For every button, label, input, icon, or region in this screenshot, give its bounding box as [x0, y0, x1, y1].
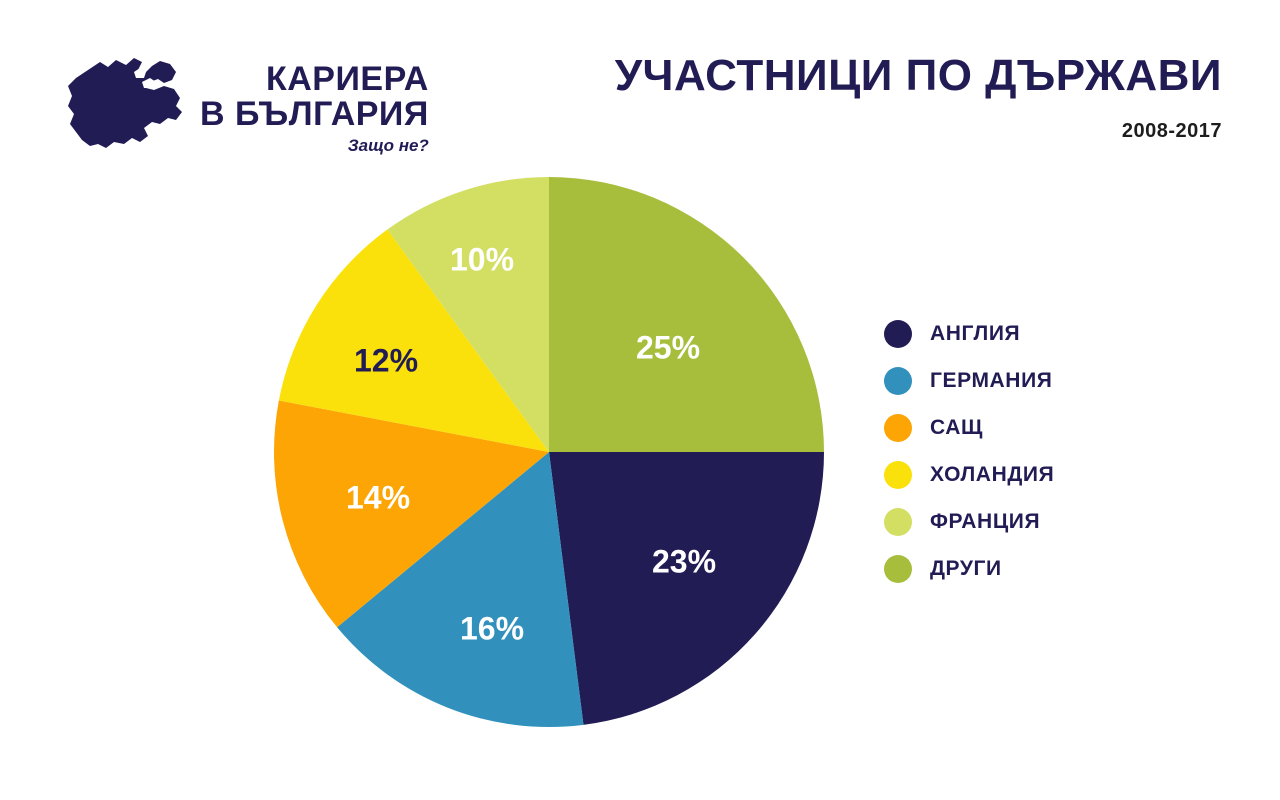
pie-slice-label: 14% [346, 479, 410, 515]
legend-item-label: ХОЛАНДИЯ [930, 463, 1054, 487]
legend-item[interactable]: АНГЛИЯ [884, 320, 1054, 348]
chart-legend: АНГЛИЯГЕРМАНИЯСАЩХОЛАНДИЯФРАНЦИЯДРУГИ [884, 320, 1054, 583]
legend-color-swatch-icon [884, 367, 912, 395]
page-title: УЧАСТНИЦИ ПО ДЪРЖАВИ [602, 52, 1222, 100]
pie-slice [549, 177, 824, 452]
legend-item[interactable]: ХОЛАНДИЯ [884, 461, 1054, 489]
legend-item-label: ГЕРМАНИЯ [930, 369, 1052, 393]
brand-tagline: Защо не? [348, 136, 429, 156]
legend-item[interactable]: ФРАНЦИЯ [884, 508, 1054, 536]
legend-item[interactable]: САЩ [884, 414, 1054, 442]
legend-item[interactable]: ГЕРМАНИЯ [884, 367, 1054, 395]
legend-item[interactable]: ДРУГИ [884, 555, 1054, 583]
pie-slice-label: 23% [652, 543, 716, 579]
legend-color-swatch-icon [884, 555, 912, 583]
brand-name-line2: В БЪЛГАРИЯ [200, 97, 429, 132]
brand-wordmark: КАРИЕРА В БЪЛГАРИЯ Защо не? [200, 48, 429, 156]
pie-slice-label: 25% [636, 329, 700, 365]
pie-slice-group [274, 177, 824, 727]
legend-color-swatch-icon [884, 508, 912, 536]
title-block: УЧАСТНИЦИ ПО ДЪРЖАВИ 2008-2017 [602, 52, 1222, 143]
legend-item-label: САЩ [930, 416, 983, 440]
legend-item-label: ФРАНЦИЯ [930, 510, 1040, 534]
brand-name-line1: КАРИЕРА [266, 62, 429, 97]
legend-item-label: АНГЛИЯ [930, 322, 1020, 346]
pie-slice-label: 16% [460, 610, 524, 646]
pie-chart: 25%23%16%14%12%10% [274, 177, 824, 727]
legend-color-swatch-icon [884, 461, 912, 489]
pie-chart-svg: 25%23%16%14%12%10% [274, 177, 824, 727]
legend-item-label: ДРУГИ [930, 557, 1002, 581]
bulgaria-map-icon [64, 48, 186, 160]
page-subtitle: 2008-2017 [602, 120, 1222, 143]
pie-slice-label: 10% [450, 241, 514, 277]
pie-slice [549, 452, 824, 725]
legend-color-swatch-icon [884, 320, 912, 348]
brand-logo: КАРИЕРА В БЪЛГАРИЯ Защо не? [64, 48, 429, 160]
legend-color-swatch-icon [884, 414, 912, 442]
pie-slice-label: 12% [354, 342, 418, 378]
